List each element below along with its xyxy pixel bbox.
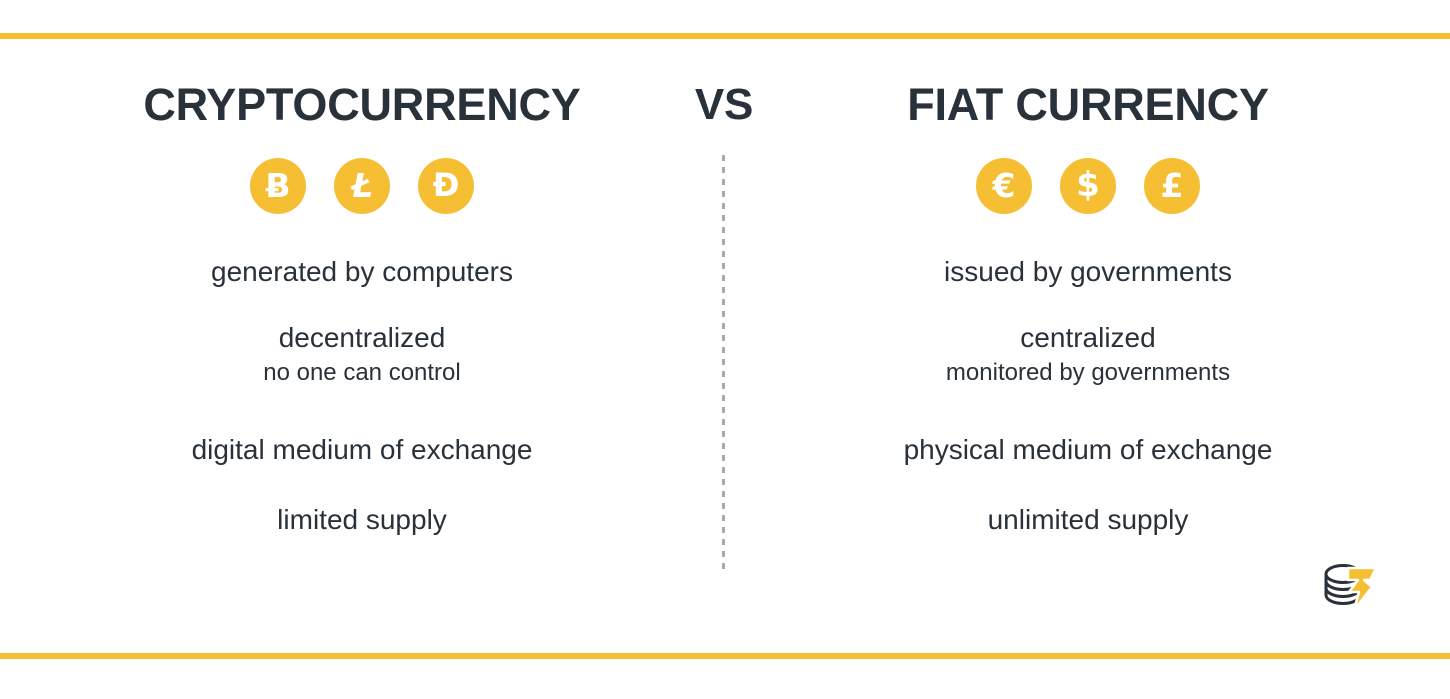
bottom-accent-rule xyxy=(0,653,1450,659)
feature-row: decentralized no one can control central… xyxy=(0,318,1450,422)
pound-coin-icon: £ xyxy=(1144,158,1200,214)
euro-symbol: € xyxy=(993,169,1016,202)
feature-primary-text: limited supply xyxy=(0,492,724,540)
feature-cell-crypto: decentralized no one can control xyxy=(0,318,724,388)
feature-cell-fiat: centralized monitored by governments xyxy=(726,318,1450,388)
feature-primary-text: centralized xyxy=(726,318,1450,358)
heading-fiat-currency: FIAT CURRENCY xyxy=(726,74,1450,136)
feature-cell-fiat: physical medium of exchange xyxy=(726,422,1450,470)
top-accent-rule xyxy=(0,33,1450,39)
dogecoin-symbol: Ð xyxy=(433,169,460,201)
bitcoin-coin-icon: Ƀ xyxy=(250,158,306,214)
dogecoin-coin-icon: Ð xyxy=(418,158,474,214)
bitcoin-symbol: Ƀ xyxy=(265,169,290,202)
pound-symbol: £ xyxy=(1161,169,1184,202)
feature-cell-crypto: generated by computers xyxy=(0,240,724,292)
feature-row: generated by computers issued by governm… xyxy=(0,240,1450,318)
feature-primary-text: decentralized xyxy=(0,318,724,358)
feature-cell-crypto: limited supply xyxy=(0,492,724,540)
headings-row: CRYPTOCURRENCY VS FIAT CURRENCY xyxy=(0,74,1450,136)
fiat-coin-row: € $ £ xyxy=(726,158,1450,214)
feature-secondary-text: monitored by governments xyxy=(726,358,1450,388)
litecoin-symbol: Ł xyxy=(351,169,373,202)
crypto-coin-row: Ƀ Ł Ð xyxy=(0,158,724,214)
comparison-feature-list: generated by computers issued by governm… xyxy=(0,240,1450,562)
feature-primary-text: generated by computers xyxy=(0,240,724,292)
feature-primary-text: issued by governments xyxy=(726,240,1450,292)
feature-row: limited supply unlimited supply xyxy=(0,492,1450,562)
infographic-canvas: CRYPTOCURRENCY VS FIAT CURRENCY Ƀ Ł Ð € … xyxy=(0,0,1450,699)
feature-row: digital medium of exchange physical medi… xyxy=(0,422,1450,492)
feature-cell-fiat: unlimited supply xyxy=(726,492,1450,540)
euro-coin-icon: € xyxy=(976,158,1032,214)
dollar-coin-icon: $ xyxy=(1060,158,1116,214)
feature-secondary-text: no one can control xyxy=(0,358,724,388)
coin-stack-lightning-logo xyxy=(1318,560,1382,616)
feature-cell-fiat: issued by governments xyxy=(726,240,1450,292)
litecoin-coin-icon: Ł xyxy=(334,158,390,214)
feature-cell-crypto: digital medium of exchange xyxy=(0,422,724,470)
feature-primary-text: unlimited supply xyxy=(726,492,1450,540)
dollar-symbol: $ xyxy=(1076,168,1100,202)
feature-primary-text: digital medium of exchange xyxy=(0,422,724,470)
feature-primary-text: physical medium of exchange xyxy=(726,422,1450,470)
